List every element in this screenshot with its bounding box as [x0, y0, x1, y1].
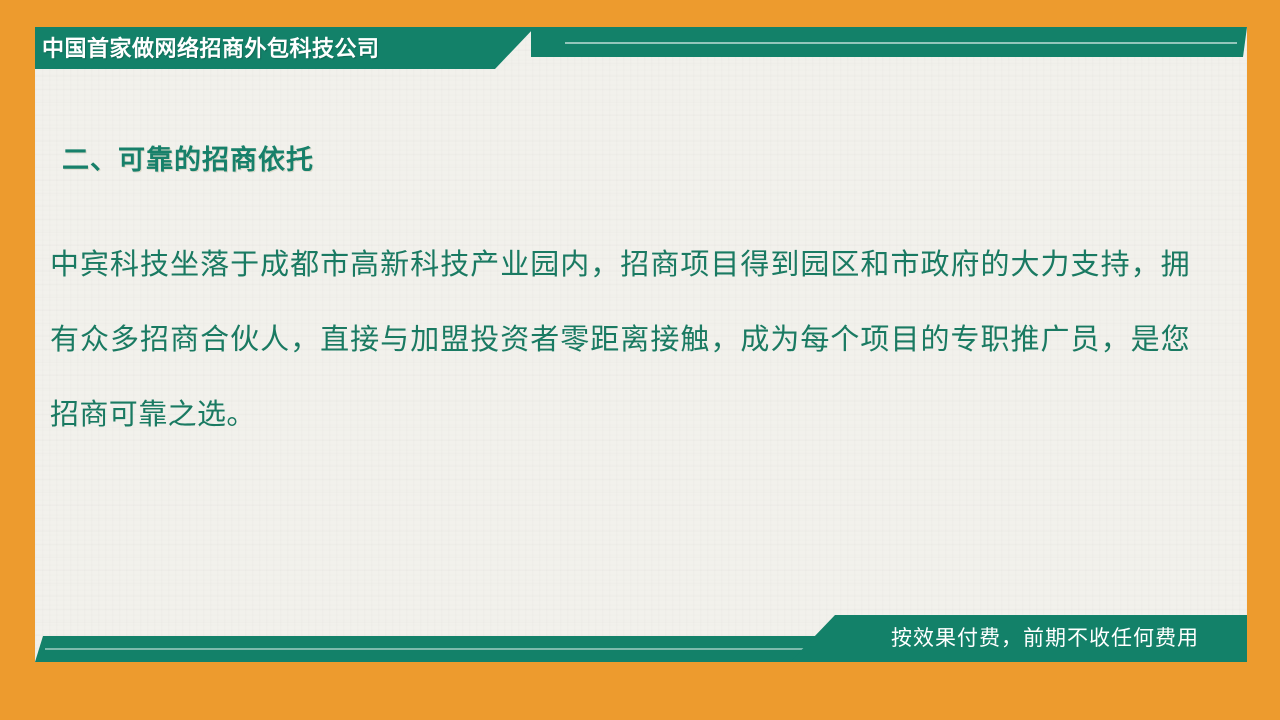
presentation-slide: 中国首家做网络招商外包科技公司 二、可靠的招商依托 中宾科技坐落于成都市高新科技… — [0, 0, 1280, 720]
section-body-paragraph: 中宾科技坐落于成都市高新科技产业园内，招商项目得到园区和市政府的大力支持，拥有众… — [50, 228, 1190, 453]
header-band: 中国首家做网络招商外包科技公司 — [35, 27, 1247, 69]
header-title: 中国首家做网络招商外包科技公司 — [42, 28, 380, 70]
section-title: 二、可靠的招商依托 — [62, 138, 314, 177]
header-band-hairline — [565, 42, 1237, 44]
footer-band-hairline — [45, 648, 825, 650]
footer-tagline: 按效果付费，前期不收任何费用 — [850, 615, 1240, 662]
footer-band: 按效果付费，前期不收任何费用 — [35, 603, 1247, 662]
